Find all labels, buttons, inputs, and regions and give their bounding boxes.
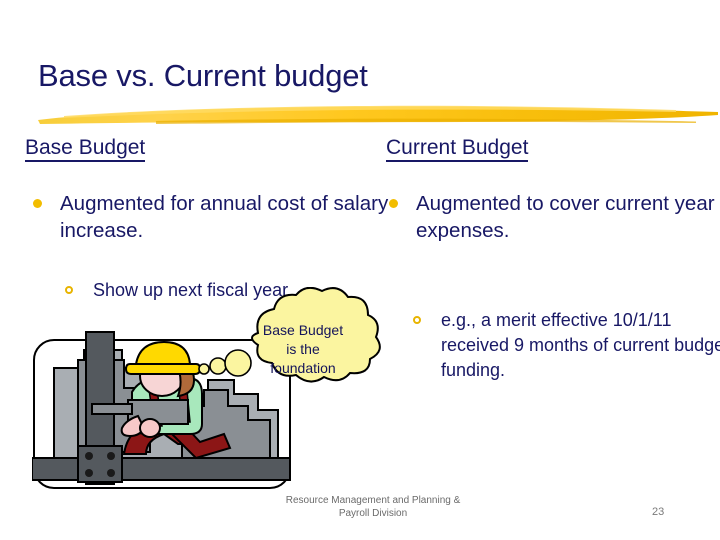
bullet-ring-icon (413, 316, 421, 324)
bullet-dot-icon (389, 199, 398, 208)
title-underline-brush-stroke (36, 99, 720, 129)
bullet-current-level2-text: e.g., a merit effective 10/1/11 received… (441, 310, 720, 380)
page-title: Base vs. Current budget (38, 58, 368, 94)
bullet-base-level1-text: Augmented for annual cost of salary incr… (60, 192, 388, 242)
footer-line-2: Payroll Division (258, 507, 488, 520)
thought-bubble-line-3: foundation (233, 359, 373, 378)
thought-bubble-line-2: is the (233, 340, 373, 359)
column-header-current-budget-label: Current Budget (386, 136, 528, 162)
bullet-ring-icon (65, 286, 73, 294)
footer: Resource Management and Planning & Payro… (258, 494, 488, 520)
column-header-base-budget: Base Budget (25, 136, 145, 160)
thought-bubble-text: Base Budget is the foundation (233, 321, 373, 378)
bullet-current-level1-text: Augmented to cover current year expenses… (416, 192, 715, 242)
column-header-current-budget: Current Budget (386, 136, 528, 160)
bullet-dot-icon (33, 199, 42, 208)
bullet-current-level1: Augmented to cover current year expenses… (386, 190, 716, 244)
page-number: 23 (652, 506, 664, 518)
bullet-current-level2: e.g., a merit effective 10/1/11 received… (410, 308, 720, 383)
footer-line-1: Resource Management and Planning & (258, 494, 488, 507)
thought-bubble-line-1: Base Budget (233, 321, 373, 340)
column-header-base-budget-label: Base Budget (25, 136, 145, 162)
bullet-base-level1: Augmented for annual cost of salary incr… (30, 190, 390, 244)
